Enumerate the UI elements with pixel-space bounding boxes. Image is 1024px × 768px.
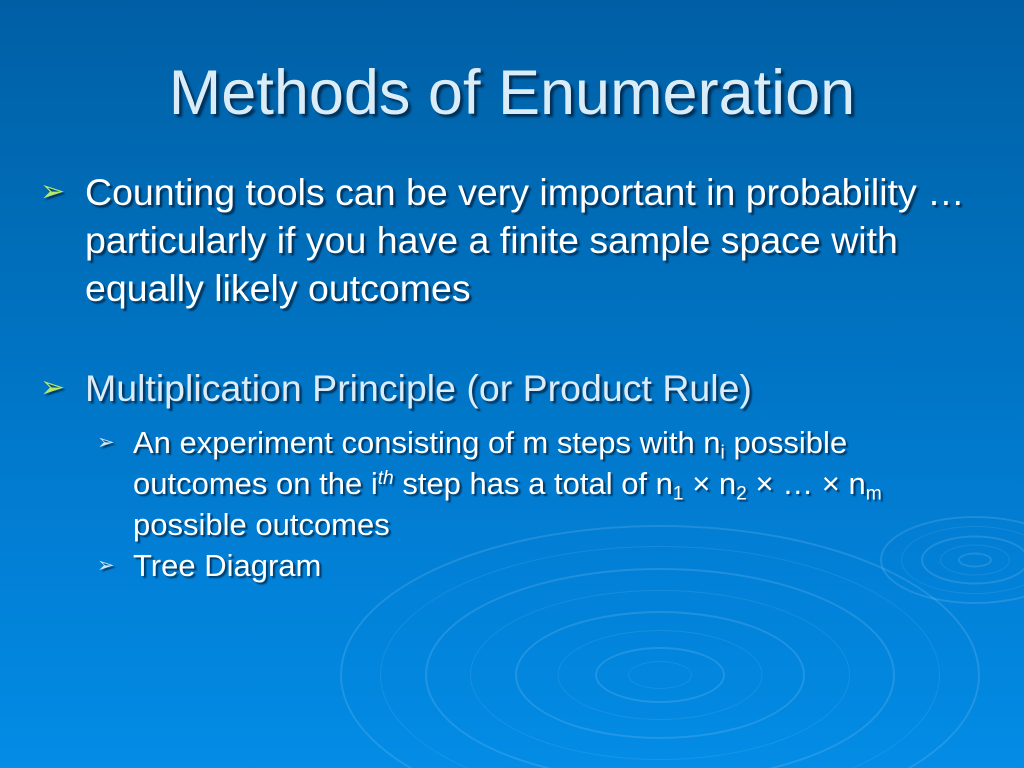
subscript-m: m: [866, 483, 882, 504]
ripple-ring: [515, 611, 805, 739]
ripple-ring: [628, 661, 692, 689]
ripple-ring: [425, 568, 895, 768]
slide-body: ➢ Counting tools can be very important i…: [40, 168, 990, 586]
arrowhead-subbullet-icon: ➢: [97, 422, 133, 463]
ripple-ring: [558, 630, 763, 720]
bullet-item-level2: ➢ An experiment consisting of m steps wi…: [40, 422, 990, 545]
slide-canvas: Methods of Enumeration ➢ Counting tools …: [0, 0, 1024, 768]
ripple-ring: [595, 647, 725, 703]
bullet-text: Tree Diagram: [133, 545, 963, 586]
superscript-th: th: [378, 468, 394, 489]
spacer: [40, 312, 990, 364]
arrowhead-bullet-icon: ➢: [40, 168, 85, 216]
arrowhead-bullet-icon: ➢: [40, 364, 85, 412]
arrowhead-subbullet-icon: ➢: [97, 545, 133, 586]
bullet-item-level1: ➢ Counting tools can be very important i…: [40, 168, 990, 312]
bullet-item-level1: ➢ Multiplication Principle (or Product R…: [40, 364, 990, 412]
subscript-1: 1: [673, 483, 684, 504]
bullet-item-level2: ➢ Tree Diagram: [40, 545, 990, 586]
subscript-2: 2: [736, 483, 747, 504]
bullet-text: Multiplication Principle (or Product Rul…: [85, 364, 965, 412]
bullet-text-formula: An experiment consisting of m steps with…: [133, 422, 963, 545]
spacer: [40, 412, 990, 422]
bullet-text: Counting tools can be very important in …: [85, 168, 965, 312]
slide-title: Methods of Enumeration: [0, 56, 1024, 130]
ripple-ring: [470, 590, 850, 760]
